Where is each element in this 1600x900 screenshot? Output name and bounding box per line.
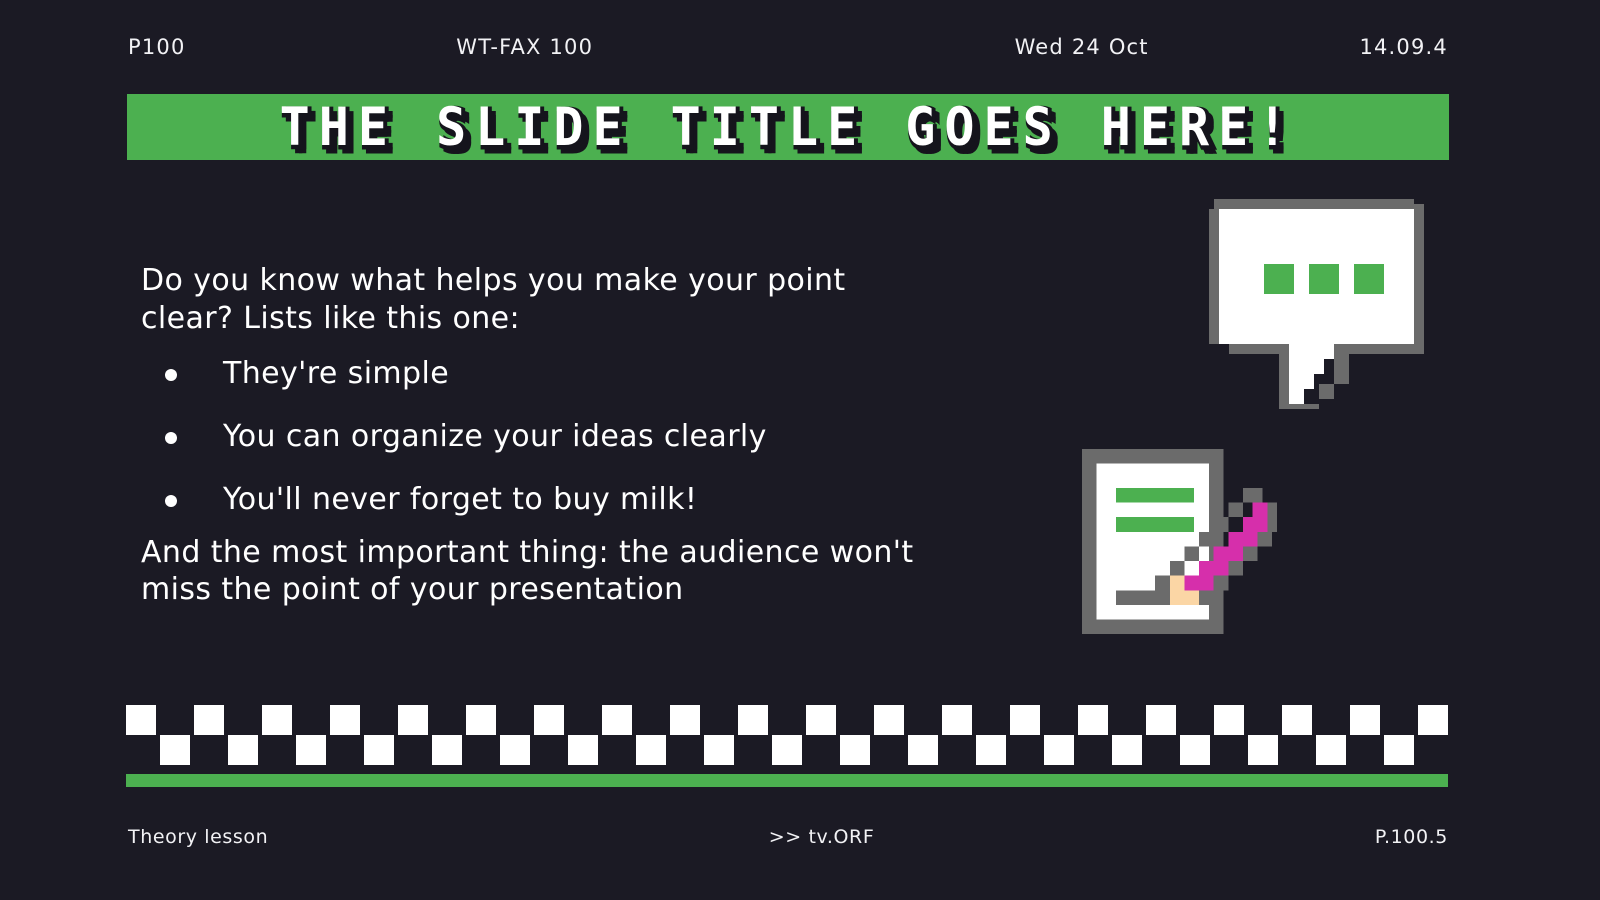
checker-square	[296, 735, 326, 765]
checker-square	[1112, 735, 1142, 765]
checker-square	[976, 735, 1006, 765]
checker-square	[670, 705, 700, 735]
checker-square	[806, 705, 836, 735]
checker-square	[1418, 705, 1448, 735]
list-item-label: You can organize your ideas clearly	[223, 419, 767, 454]
header-date: Wed 24 Oct	[804, 35, 1360, 59]
slide-title-banner: THE SLIDE TITLE GOES HERE!	[127, 94, 1449, 160]
closing-paragraph: And the most important thing: the audien…	[141, 534, 981, 610]
checker-square	[840, 735, 870, 765]
checkerboard-divider	[126, 705, 1448, 767]
bullet-dot-icon	[165, 495, 177, 507]
clipboard-pencil-icon	[1082, 444, 1277, 639]
checker-square	[1180, 735, 1210, 765]
checker-square	[364, 735, 394, 765]
slide-canvas: P100 WT-FAX 100 Wed 24 Oct 14.09.4 THE S…	[0, 0, 1600, 900]
bullet-dot-icon	[165, 369, 177, 381]
checker-square	[942, 705, 972, 735]
checker-square	[398, 705, 428, 735]
checker-square	[194, 705, 224, 735]
header-timecode: 14.09.4	[1359, 35, 1448, 59]
list-item: You can organize your ideas clearly	[141, 419, 981, 455]
checker-square	[1044, 735, 1074, 765]
checker-square	[1350, 705, 1380, 735]
checker-square	[330, 705, 360, 735]
list-item-label: They're simple	[223, 356, 449, 391]
checker-square	[874, 705, 904, 735]
checker-square	[602, 705, 632, 735]
list-item: You'll never forget to buy milk!	[141, 482, 981, 518]
checker-square	[534, 705, 564, 735]
checker-square	[704, 735, 734, 765]
checker-square	[262, 705, 292, 735]
checker-square	[500, 735, 530, 765]
checker-square	[1248, 735, 1278, 765]
checker-square	[1146, 705, 1176, 735]
header-channel: WT-FAX 100	[246, 35, 804, 59]
checker-square	[228, 735, 258, 765]
list-item-label: You'll never forget to buy milk!	[223, 482, 697, 517]
checker-square	[1282, 705, 1312, 735]
footer-channel-tag: >> tv.ORF	[268, 826, 1375, 848]
header-left-code: P100	[128, 35, 186, 59]
lead-paragraph: Do you know what helps you make your poi…	[141, 262, 981, 338]
green-rule-divider	[126, 774, 1448, 787]
slide-body: Do you know what helps you make your poi…	[141, 262, 981, 609]
checker-square	[1214, 705, 1244, 735]
footer-page-number: P.100.5	[1375, 826, 1448, 848]
checker-square	[1316, 735, 1346, 765]
slide-footer: Theory lesson >> tv.ORF P.100.5	[128, 822, 1448, 852]
checker-square	[908, 735, 938, 765]
slide-header-meta: P100 WT-FAX 100 Wed 24 Oct 14.09.4	[128, 30, 1448, 64]
checker-square	[738, 705, 768, 735]
speech-bubble-icon	[1209, 198, 1424, 410]
checker-square	[160, 735, 190, 765]
page-title: THE SLIDE TITLE GOES HERE!	[280, 101, 1297, 154]
checker-square	[1010, 705, 1040, 735]
checker-square	[636, 735, 666, 765]
footer-lesson-label: Theory lesson	[128, 826, 268, 848]
checker-square	[568, 735, 598, 765]
checker-square	[1078, 705, 1108, 735]
checker-square	[126, 705, 156, 735]
checker-square	[466, 705, 496, 735]
checker-square	[772, 735, 802, 765]
bullet-dot-icon	[165, 432, 177, 444]
checker-square	[1384, 735, 1414, 765]
bullet-list: They're simple You can organize your ide…	[141, 356, 981, 518]
list-item: They're simple	[141, 356, 981, 392]
checker-square	[432, 735, 462, 765]
